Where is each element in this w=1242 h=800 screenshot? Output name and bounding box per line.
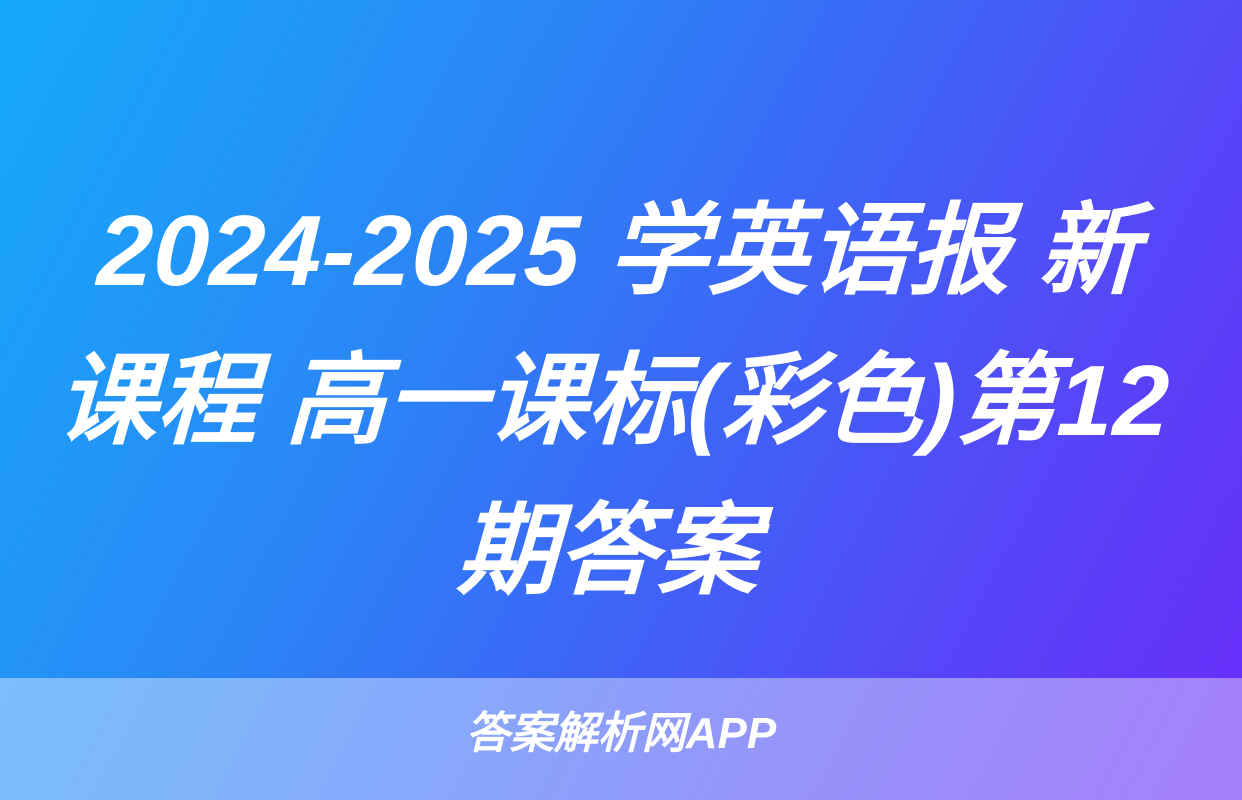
page-title: 2024-2025 学英语报 新课程 高一课标(彩色)第12期答案	[46, 176, 1180, 626]
poster-canvas: 2024-2025 学英语报 新课程 高一课标(彩色)第12期答案 答案解析网A…	[0, 0, 1242, 800]
watermark-brand-label: 答案解析网APP	[0, 706, 1242, 762]
